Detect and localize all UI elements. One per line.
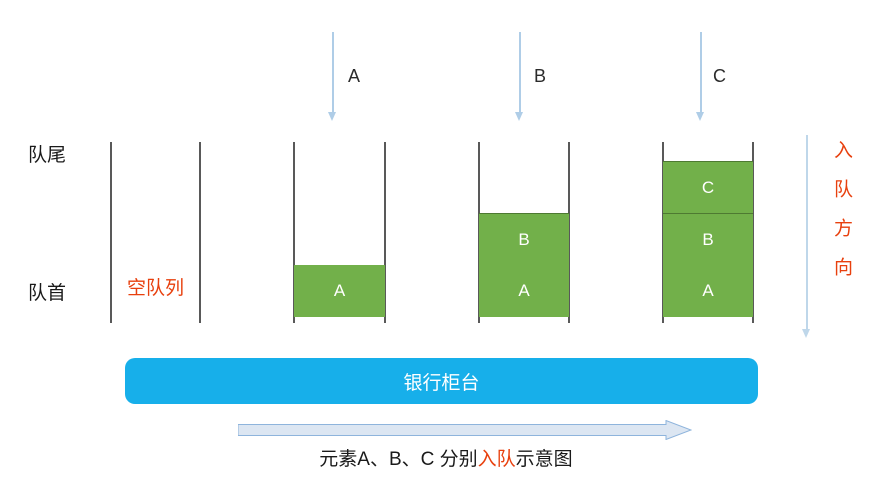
- queue-item: C: [663, 161, 753, 213]
- queue-a: A: [293, 142, 386, 323]
- drop-arrow-label-b: B: [534, 67, 546, 85]
- arrow-head-icon: [696, 112, 704, 121]
- diagram-canvas: A B C 队尾 队首 空队列 A A B A: [0, 0, 892, 493]
- queue-item: A: [663, 265, 753, 317]
- caption-suffix: 示意图: [516, 449, 573, 470]
- drop-arrow-b: [513, 32, 527, 122]
- arrow-head-icon: [802, 329, 810, 338]
- queue-empty: 空队列: [110, 142, 201, 323]
- queue-item: B: [479, 213, 569, 265]
- queue-blocks: A: [294, 265, 385, 317]
- queue-item: A: [294, 265, 385, 317]
- drop-arrow-c: [694, 32, 708, 122]
- bank-counter-bar: 银行柜台: [125, 358, 758, 404]
- flow-arrow-svg: [238, 420, 692, 440]
- arrow-head-icon: [328, 112, 336, 121]
- diagram-caption: 元素A、B、C 分别入队示意图: [0, 450, 892, 469]
- caption-highlight: 入队: [478, 449, 516, 470]
- arrow-head-icon: [515, 112, 523, 121]
- queue-item: A: [479, 265, 569, 317]
- arrow-shaft: [700, 32, 702, 114]
- arrow-shaft: [519, 32, 521, 114]
- queue-blocks: A B C: [663, 161, 753, 317]
- head-label: 队首: [28, 284, 66, 303]
- queue-abc: A B C: [662, 142, 754, 323]
- arrow-shaft: [806, 135, 808, 331]
- drop-arrow-label-a: A: [348, 67, 360, 85]
- enqueue-direction-label: 入队方向: [832, 140, 851, 296]
- enqueue-direction-arrow: [801, 135, 813, 340]
- queue-blocks: A B: [479, 213, 569, 317]
- caption-prefix: 元素A、B、C 分别: [319, 449, 477, 470]
- queue-ab: A B: [478, 142, 570, 323]
- empty-queue-label: 空队列: [110, 273, 201, 300]
- tail-label: 队尾: [28, 146, 66, 165]
- queue-item: B: [663, 213, 753, 265]
- arrow-shaft: [332, 32, 334, 114]
- drop-arrow-label-c: C: [713, 67, 726, 85]
- drop-arrow-a: [326, 32, 340, 122]
- flow-direction-arrow: [238, 420, 692, 440]
